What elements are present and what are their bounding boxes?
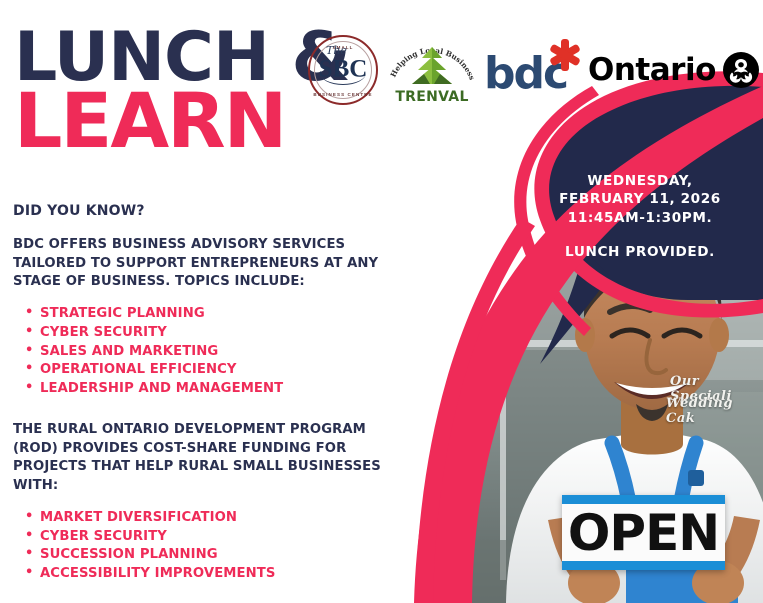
event-details-block: WEDNESDAY, FEBRUARY 11, 2026 11:45AM-1:3… bbox=[535, 172, 745, 260]
body-copy: DID YOU KNOW? BDC OFFERS BUSINESS ADVISO… bbox=[13, 203, 413, 603]
trenval-wordmark: TRENVAL bbox=[388, 89, 476, 105]
did-you-know-kicker: DID YOU KNOW? bbox=[13, 203, 413, 219]
event-date: FEBRUARY 11, 2026 bbox=[535, 190, 745, 208]
open-sign-label: OPEN bbox=[568, 508, 719, 558]
event-day: WEDNESDAY, bbox=[535, 172, 745, 190]
ontario-logo: Ontario bbox=[588, 47, 738, 93]
list-item: SUCCESSION PLANNING bbox=[13, 546, 413, 565]
bdc-asterisk-icon bbox=[548, 38, 582, 72]
list-item: ACCESSIBILITY IMPROVEMENTS bbox=[13, 565, 413, 584]
ontario-trillium-icon bbox=[723, 52, 759, 88]
bullet-list-rod: MARKET DIVERSIFICATION CYBER SECURITY SU… bbox=[13, 509, 413, 584]
list-item: OPERATIONAL EFFICIENCY bbox=[13, 361, 413, 380]
open-sign: OPEN bbox=[562, 495, 725, 570]
sbc-arc-bottom-text: BUSINESS CENTRE bbox=[306, 92, 380, 97]
list-item: SALES AND MARKETING bbox=[13, 343, 413, 362]
list-item: LEADERSHIP AND MANAGEMENT bbox=[13, 380, 413, 399]
page-title: LUNCH & LEARN bbox=[14, 26, 350, 157]
list-item: CYBER SECURITY bbox=[13, 324, 413, 343]
list-item: STRATEGIC PLANNING bbox=[13, 305, 413, 324]
lunch-and-learn-poster: Our Speciali Wedding Cak OPEN WEDNESDAY,… bbox=[0, 0, 763, 603]
list-item: CYBER SECURITY bbox=[13, 528, 413, 547]
trenval-tree-icon bbox=[408, 46, 456, 88]
paragraph-rod-program: THE RURAL ONTARIO DEVELOPMENT PROGRAM (R… bbox=[13, 421, 413, 496]
bullet-list-topics: STRATEGIC PLANNING CYBER SECURITY SALES … bbox=[13, 305, 413, 399]
ontario-wordmark: Ontario bbox=[588, 55, 716, 86]
sbc-logo: SMALL The SBC BUSINESS CENTRE bbox=[306, 33, 380, 107]
shop-window-text-2: Wedding Cak bbox=[666, 396, 763, 426]
event-time: 11:45AM-1:30PM. bbox=[535, 209, 745, 227]
lunch-provided-note: LUNCH PROVIDED. bbox=[535, 244, 745, 260]
trenval-logo: Helping Local Business Thrive TRENVAL bbox=[388, 34, 476, 106]
bdc-logo: bdc bbox=[484, 38, 580, 102]
paragraph-bdc-services: BDC OFFERS BUSINESS ADVISORY SERVICES TA… bbox=[13, 236, 413, 292]
partner-logo-row: SMALL The SBC BUSINESS CENTRE Helping Lo… bbox=[306, 33, 738, 107]
list-item: MARKET DIVERSIFICATION bbox=[13, 509, 413, 528]
